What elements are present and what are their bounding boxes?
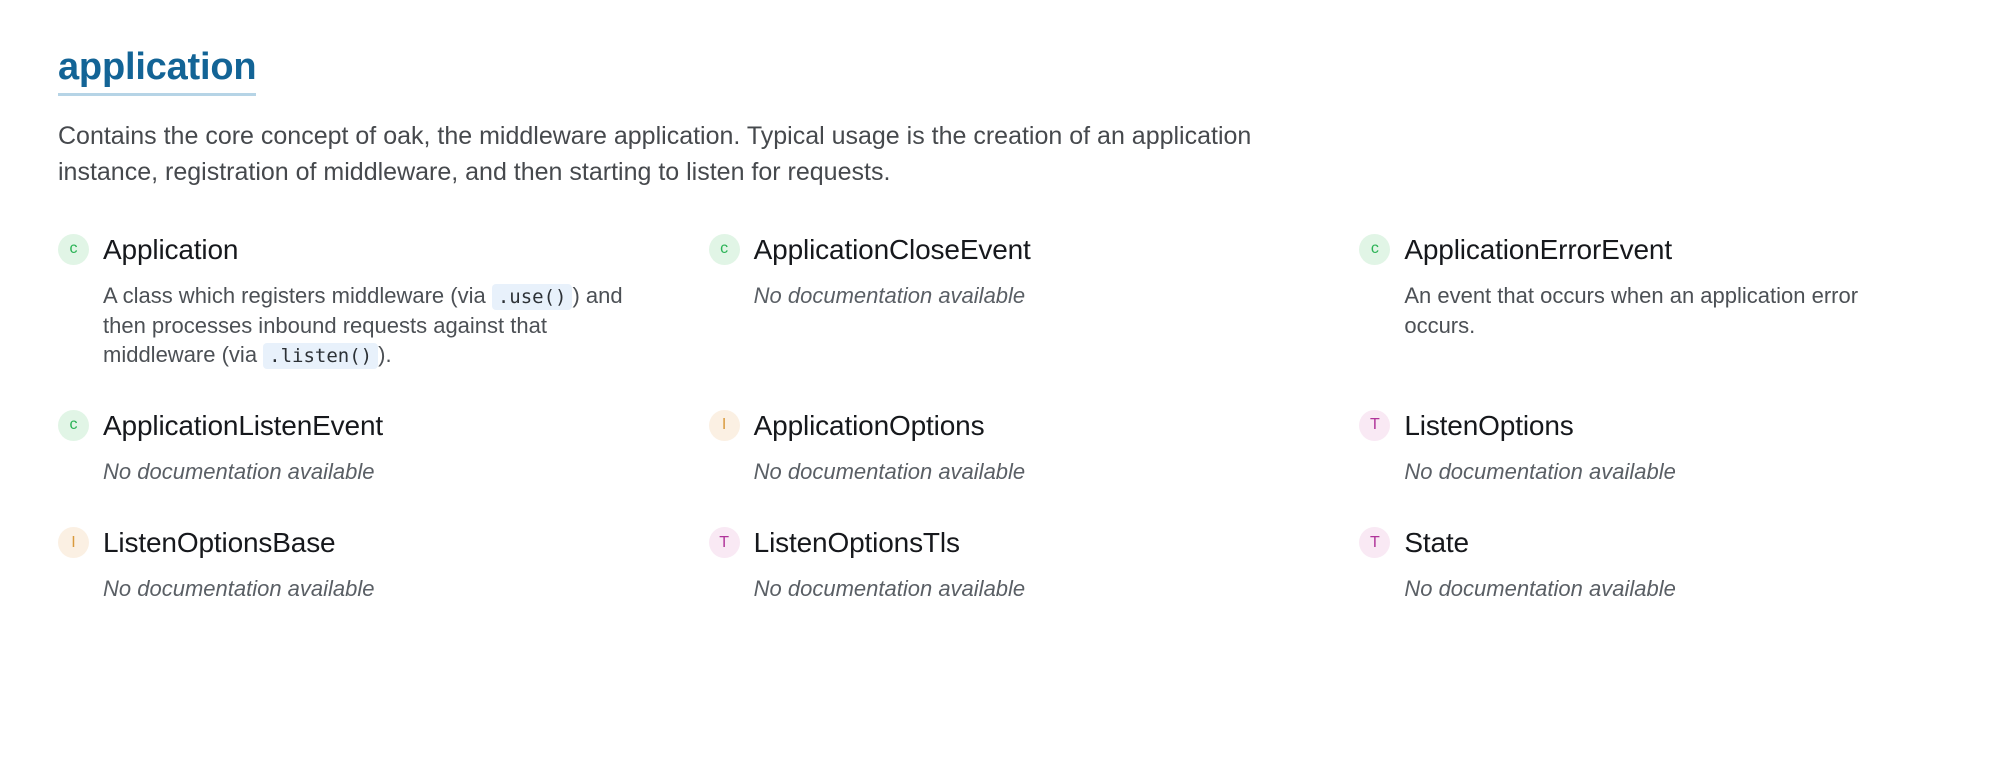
symbol-card: TStateNo documentation available xyxy=(1359,526,1942,604)
kind-class-icon: c xyxy=(1359,234,1390,265)
kind-typealias-icon: T xyxy=(1359,527,1390,558)
symbol-header: TListenOptionsTls xyxy=(709,526,1292,560)
symbol-doc-empty: No documentation available xyxy=(103,574,623,603)
symbol-doc-text: No documentation available xyxy=(103,457,623,486)
symbol-doc-empty: No documentation available xyxy=(1404,574,1924,603)
symbol-card: cApplicationListenEventNo documentation … xyxy=(58,409,641,487)
symbol-name-link[interactable]: ApplicationListenEvent xyxy=(103,409,383,443)
symbol-header: cApplicationErrorEvent xyxy=(1359,233,1942,267)
symbol-name-link[interactable]: ListenOptions xyxy=(1404,409,1573,443)
symbol-doc-text: An event that occurs when an application… xyxy=(1404,281,1924,340)
symbol-doc-text: No documentation available xyxy=(103,574,623,603)
symbol-header: TState xyxy=(1359,526,1942,560)
symbol-card: cApplicationCloseEventNo documentation a… xyxy=(709,233,1292,311)
symbol-header: cApplicationCloseEvent xyxy=(709,233,1292,267)
symbol-name-link[interactable]: ApplicationErrorEvent xyxy=(1404,233,1672,267)
symbol-header: cApplicationListenEvent xyxy=(58,409,641,443)
kind-class-icon: c xyxy=(58,234,89,265)
page-title-row: application xyxy=(58,46,1942,96)
symbol-name-link[interactable]: ApplicationOptions xyxy=(754,409,985,443)
symbol-header: IApplicationOptions xyxy=(709,409,1292,443)
symbol-card: TListenOptionsNo documentation available xyxy=(1359,409,1942,487)
symbol-card: cApplicationErrorEventAn event that occu… xyxy=(1359,233,1942,341)
symbol-grid: cApplicationA class which registers midd… xyxy=(58,233,1942,604)
kind-typealias-icon: T xyxy=(1359,410,1390,441)
kind-interface-icon: I xyxy=(709,410,740,441)
kind-interface-icon: I xyxy=(58,527,89,558)
kind-typealias-icon: T xyxy=(709,527,740,558)
module-description-text: Contains the core concept of oak, the mi… xyxy=(58,118,1343,191)
symbol-doc-empty: No documentation available xyxy=(754,281,1274,310)
symbol-header: TListenOptions xyxy=(1359,409,1942,443)
symbol-doc-empty: No documentation available xyxy=(1404,457,1924,486)
symbol-doc: A class which registers middleware (via … xyxy=(103,281,623,369)
symbol-card: TListenOptionsTlsNo documentation availa… xyxy=(709,526,1292,604)
symbol-doc-empty: No documentation available xyxy=(103,457,623,486)
kind-class-icon: c xyxy=(709,234,740,265)
symbol-doc-text: No documentation available xyxy=(754,457,1274,486)
symbol-doc-text: No documentation available xyxy=(1404,574,1924,603)
symbol-doc: An event that occurs when an application… xyxy=(1404,281,1924,340)
inline-code: .use() xyxy=(492,284,573,310)
module-description: Contains the core concept of oak, the mi… xyxy=(58,118,1343,191)
symbol-doc-text: No documentation available xyxy=(754,281,1274,310)
symbol-name-link[interactable]: ListenOptionsTls xyxy=(754,526,960,560)
symbol-card: cApplicationA class which registers midd… xyxy=(58,233,641,370)
symbol-card: IListenOptionsBaseNo documentation avail… xyxy=(58,526,641,604)
symbol-name-link[interactable]: ApplicationCloseEvent xyxy=(754,233,1031,267)
symbol-doc-text: A class which registers middleware (via … xyxy=(103,281,623,369)
symbol-card: IApplicationOptionsNo documentation avai… xyxy=(709,409,1292,487)
symbol-doc-empty: No documentation available xyxy=(754,457,1274,486)
symbol-name-link[interactable]: Application xyxy=(103,233,238,267)
symbol-name-link[interactable]: State xyxy=(1404,526,1469,560)
symbol-name-link[interactable]: ListenOptionsBase xyxy=(103,526,335,560)
symbol-header: IListenOptionsBase xyxy=(58,526,641,560)
module-title-link[interactable]: application xyxy=(58,46,256,96)
kind-class-icon: c xyxy=(58,410,89,441)
symbol-doc-empty: No documentation available xyxy=(754,574,1274,603)
module-doc-page: application Contains the core concept of… xyxy=(0,0,2000,782)
symbol-doc-text: No documentation available xyxy=(754,574,1274,603)
inline-code: .listen() xyxy=(263,343,378,369)
symbol-header: cApplication xyxy=(58,233,641,267)
symbol-doc-text: No documentation available xyxy=(1404,457,1924,486)
